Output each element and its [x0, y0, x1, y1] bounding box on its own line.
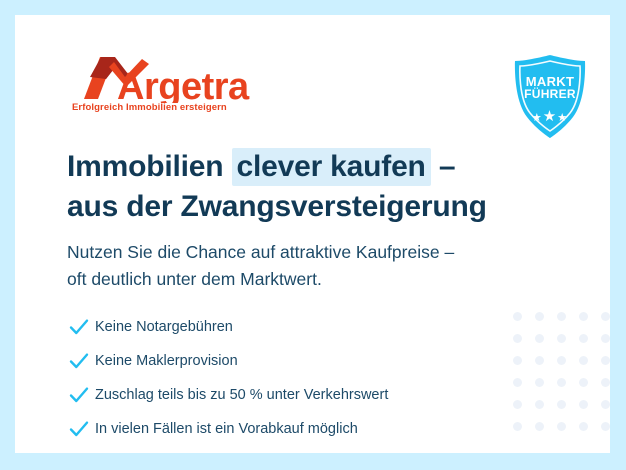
- argetra-roof-arrow-icon: Argetra: [70, 55, 260, 103]
- list-item-label: Keine Maklerprovision: [95, 353, 238, 369]
- dot-decoration: [579, 378, 588, 387]
- dot-decoration: [579, 400, 588, 409]
- check-icon: [69, 386, 95, 404]
- dot-decoration: [557, 334, 566, 343]
- banner-card: Argetra Erfolgreich Immobilien ersteiger…: [15, 15, 610, 453]
- logo-tagline: Erfolgreich Immobilien ersteigern: [72, 102, 227, 113]
- dot-decoration: [535, 378, 544, 387]
- dot-decoration: [535, 400, 544, 409]
- dot-decoration: [535, 422, 544, 431]
- check-icon: [69, 318, 95, 336]
- dot-decoration: [513, 378, 522, 387]
- list-item: Zuschlag teils bis zu 50 % unter Verkehr…: [69, 380, 499, 410]
- dot-grid-row: [513, 400, 610, 409]
- dot-decoration: [579, 334, 588, 343]
- dot-decoration: [601, 356, 610, 365]
- list-item: Keine Notargebühren: [69, 312, 499, 342]
- check-icon: [69, 420, 95, 438]
- dot-grid-row: [513, 334, 610, 343]
- dot-decoration: [535, 356, 544, 365]
- dot-decoration: [513, 422, 522, 431]
- dot-decoration: [601, 422, 610, 431]
- dot-grid-row: [513, 378, 610, 387]
- page-subtitle: Nutzen Sie die Chance auf attraktive Kau…: [67, 239, 537, 293]
- dot-decoration: [601, 334, 610, 343]
- list-item-label: Keine Notargebühren: [95, 319, 233, 335]
- svg-text:Argetra: Argetra: [117, 66, 250, 103]
- dot-decoration: [557, 422, 566, 431]
- dot-decoration: [557, 400, 566, 409]
- subtitle-line-1: Nutzen Sie die Chance auf attraktive Kau…: [67, 239, 537, 266]
- dot-grid-row: [513, 312, 610, 321]
- list-item: Keine Maklerprovision: [69, 346, 499, 376]
- list-item: In vielen Fällen ist ein Vorabkauf mögli…: [69, 414, 499, 444]
- headline-highlight: clever kaufen: [232, 148, 431, 186]
- dot-decoration: [601, 378, 610, 387]
- dot-decoration: [557, 378, 566, 387]
- dot-decoration: [579, 422, 588, 431]
- list-item-label: Zuschlag teils bis zu 50 % unter Verkehr…: [95, 387, 388, 403]
- benefits-list: Keine NotargebührenKeine Maklerprovision…: [69, 312, 499, 448]
- dot-decoration: [513, 356, 522, 365]
- dot-grid-decoration: [513, 312, 610, 452]
- dot-grid-row: [513, 422, 610, 431]
- promo-banner: Argetra Erfolgreich Immobilien ersteiger…: [0, 0, 626, 470]
- list-item-label: In vielen Fällen ist ein Vorabkauf mögli…: [95, 421, 358, 437]
- headline-line-1-prefix: Immobilien: [67, 150, 232, 183]
- markt-fuehrer-badge: MARKT FÜHRER ★★★: [509, 53, 591, 141]
- dot-decoration: [513, 334, 522, 343]
- headline-line-1-suffix: –: [431, 150, 456, 183]
- dot-decoration: [579, 356, 588, 365]
- dot-decoration: [535, 334, 544, 343]
- check-icon: [69, 352, 95, 370]
- subtitle-line-2: oft deutlich unter dem Marktwert.: [67, 266, 537, 293]
- headline-line-2: aus der Zwangsversteigerung: [67, 188, 547, 226]
- dot-decoration: [513, 312, 522, 321]
- dot-decoration: [513, 400, 522, 409]
- page-title: Immobilien clever kaufen – aus der Zwang…: [67, 148, 547, 226]
- dot-decoration: [535, 312, 544, 321]
- shield-icon: [509, 53, 591, 141]
- dot-decoration: [579, 312, 588, 321]
- argetra-logo[interactable]: Argetra Erfolgreich Immobilien ersteiger…: [70, 55, 260, 117]
- dot-grid-row: [513, 356, 610, 365]
- dot-decoration: [557, 312, 566, 321]
- dot-decoration: [601, 400, 610, 409]
- dot-decoration: [601, 312, 610, 321]
- dot-decoration: [557, 356, 566, 365]
